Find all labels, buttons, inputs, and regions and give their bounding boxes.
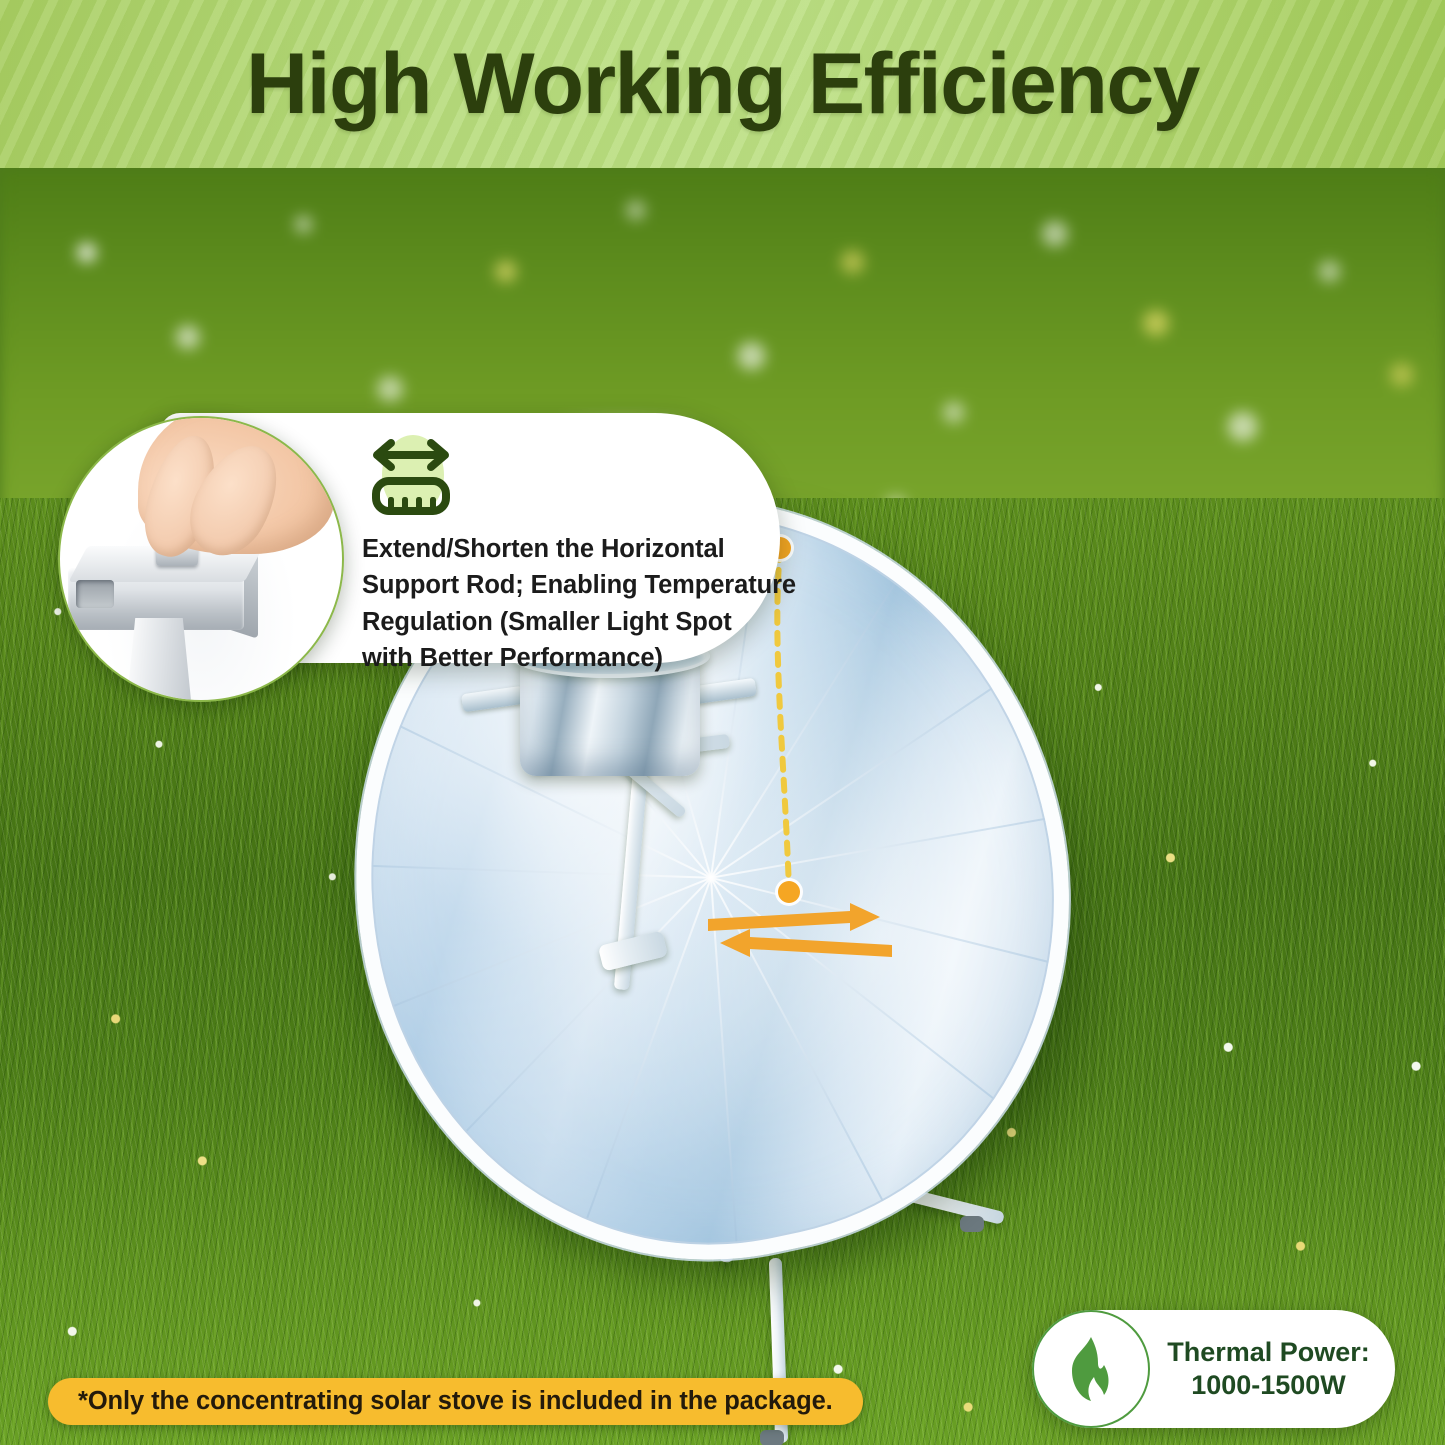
- header-banner: High Working Efficiency: [0, 0, 1445, 168]
- flame-icon: [1060, 1335, 1122, 1403]
- leader-dot-bottom: [778, 881, 800, 903]
- callout-line-2: Support Rod; Enabling Temperature: [362, 567, 752, 603]
- badge-thermal-power: Thermal Power: 1000-1500W: [1032, 1310, 1395, 1428]
- product-marketing-image: High Working Efficiency: [0, 0, 1445, 1445]
- badge-icon-circle: [1032, 1310, 1150, 1428]
- badge-1-line-2: 1000-1500W: [1150, 1369, 1387, 1402]
- callout-description: Extend/Shorten the Horizontal Support Ro…: [362, 531, 752, 677]
- extend-shorten-ruler-icon: [364, 429, 458, 525]
- hand-adjusting-wing-nut-photo: [58, 416, 344, 702]
- page-title: High Working Efficiency: [0, 0, 1445, 168]
- lifestyle-photo-scene: Extend/Shorten the Horizontal Support Ro…: [0, 168, 1445, 1445]
- callout-line-1: Extend/Shorten the Horizontal: [362, 531, 752, 567]
- callout-line-4: with Better Performance): [362, 640, 752, 676]
- ruler-arrow-glyph: [364, 429, 458, 525]
- tripod-foot-center: [760, 1430, 784, 1445]
- support-post: [126, 618, 192, 702]
- callout-line-3: Regulation (Smaller Light Spot: [362, 604, 752, 640]
- tripod-foot-right: [960, 1216, 984, 1232]
- bracket-tube-opening: [76, 580, 114, 608]
- concentrating-solar-stove: [0, 168, 1445, 1445]
- badge-1-line-1: Thermal Power:: [1150, 1336, 1387, 1369]
- package-disclaimer: *Only the concentrating solar stove is i…: [48, 1378, 863, 1425]
